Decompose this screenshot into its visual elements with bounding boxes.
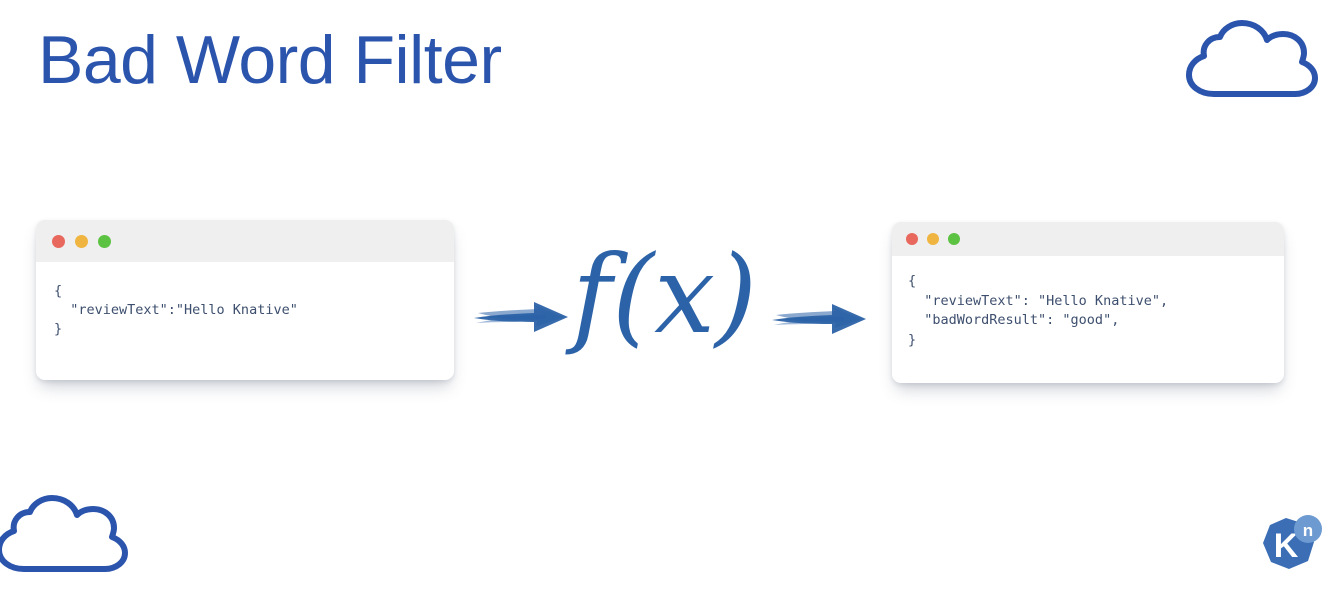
close-button[interactable] xyxy=(52,235,65,248)
window-titlebar xyxy=(892,222,1284,256)
window-titlebar xyxy=(36,220,454,262)
cloud-outline-icon xyxy=(1172,10,1322,115)
knative-n-letter: n xyxy=(1303,521,1313,540)
arrow-right-icon xyxy=(770,298,870,345)
page-title: Bad Word Filter xyxy=(38,26,502,94)
arrow-right-icon xyxy=(472,296,572,343)
close-button[interactable] xyxy=(906,233,918,245)
knative-logo: K n xyxy=(1256,512,1326,585)
request-payload-window: { "reviewText":"Hello Knative" } xyxy=(36,220,454,380)
minimize-button[interactable] xyxy=(927,233,939,245)
response-payload-window: { "reviewText": "Hello Knative", "badWor… xyxy=(892,222,1284,383)
maximize-button[interactable] xyxy=(98,235,111,248)
response-code-block: { "reviewText": "Hello Knative", "badWor… xyxy=(892,256,1284,350)
function-symbol: f(x) xyxy=(572,242,757,350)
maximize-button[interactable] xyxy=(948,233,960,245)
request-code-block: { "reviewText":"Hello Knative" } xyxy=(36,262,454,339)
cloud-outline-icon xyxy=(0,485,132,590)
minimize-button[interactable] xyxy=(75,235,88,248)
